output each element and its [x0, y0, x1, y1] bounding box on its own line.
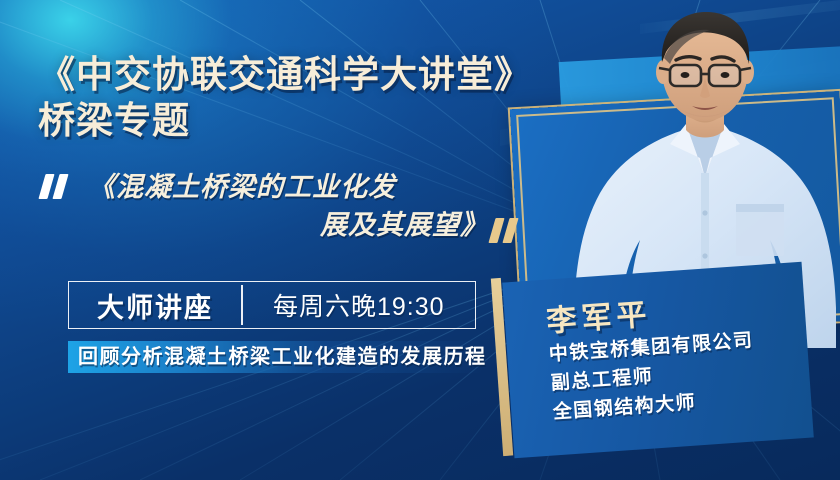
schedule-label: 大师讲座: [69, 282, 241, 328]
speaker-info: 李军平 中铁宝桥集团有限公司 副总工程师 全国钢结构大师: [514, 268, 826, 464]
lecture-topic-text: 《混凝土桥梁的工业化发 展及其展望》: [88, 168, 488, 244]
title-line-2: 桥梁专题: [38, 98, 598, 144]
lecture-topic-line-2: 展及其展望》: [88, 206, 488, 244]
title-line-1: 《中交协联交通科学大讲堂》: [38, 52, 598, 98]
lecture-poster: 《中交协联交通科学大讲堂》 桥梁专题 《混凝土桥梁的工业化发 展及其展望》 大师…: [0, 0, 840, 480]
close-quote-icon: [490, 218, 524, 244]
subtitle-text: 回顾分析混凝土桥梁工业化建造的发展历程: [78, 342, 487, 372]
schedule-time: 每周六晚19:30: [243, 282, 476, 328]
lecture-topic-line-1: 《混凝土桥梁的工业化发: [88, 168, 488, 206]
lecture-topic-quote: 《混凝土桥梁的工业化发 展及其展望》: [38, 168, 538, 263]
page-title: 《中交协联交通科学大讲堂》 桥梁专题: [38, 52, 598, 144]
schedule-box: 大师讲座 每周六晚19:30: [68, 281, 476, 329]
open-quote-icon: [40, 174, 74, 200]
